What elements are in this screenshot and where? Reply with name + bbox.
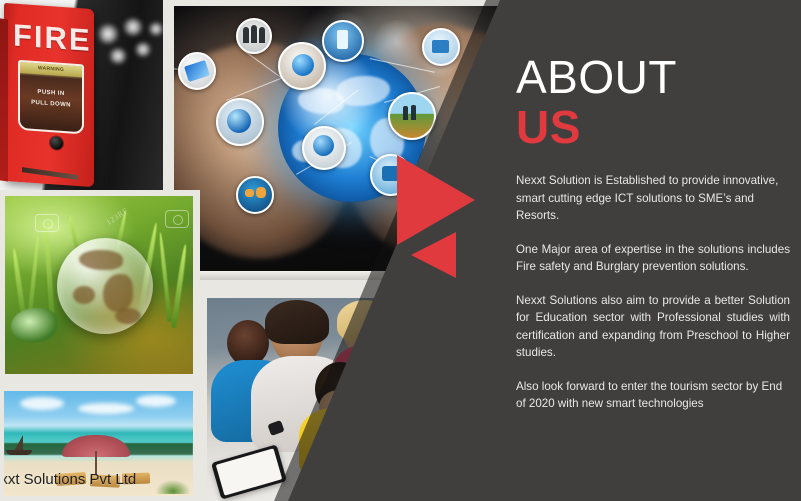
watermark-text: 123RF [105,206,130,227]
tablet-device [211,444,287,499]
title-line-us: US [516,102,677,152]
fire-alarm-pull-label: PULL DOWN [20,99,82,109]
paragraph-tourism: Also look forward to enter the tourism s… [516,378,790,413]
node-icon-device-blue [322,20,364,62]
body-copy: Nexxt Solution is Established to provide… [516,172,790,429]
play-arrow-left-icon [411,232,456,278]
fire-alarm-window: WARNING PUSH IN PULL DOWN [18,60,84,135]
node-icon-people [236,18,272,54]
watermark-icon [35,214,59,232]
sailboat-graphic [6,435,34,455]
fire-alarm-label: FIRE [13,17,92,58]
slide-canvas: FIRE WARNING PUSH IN PULL DOWN [0,0,801,501]
title-line-about: ABOUT [516,52,677,102]
node-icon-globe-small [302,126,346,170]
paragraph-education: Nexxt Solutions also aim to provide a be… [516,292,790,362]
node-icon-team-globe [216,98,264,146]
company-caption: exxt Solutions Pvt Ltd [4,471,136,488]
fire-alarm-warning-label: WARNING [20,62,82,77]
node-icon-globe-hand [278,42,326,90]
node-icon-network [422,28,460,66]
page-title: ABOUT US [516,52,677,152]
fire-alarm-pull-station: FIRE WARNING PUSH IN PULL DOWN [4,3,94,187]
watermark-icon [165,210,189,228]
image-nature-globe: 123RF [0,190,200,386]
node-icon-world-map [236,176,274,214]
fire-alarm-push-label: PUSH IN [20,88,82,98]
node-icon-tablet [178,52,216,90]
image-fire-alarm: FIRE WARNING PUSH IN PULL DOWN [0,0,168,190]
glass-globe-graphic [57,238,153,334]
fire-alarm-keyhole-icon [50,136,63,150]
paragraph-expertise: One Major area of expertise in the solut… [516,241,790,276]
image-beach: exxt Solutions Pvt Ltd [0,386,200,501]
node-icon-family-field [388,92,436,140]
paragraph-intro: Nexxt Solution is Established to provide… [516,172,790,225]
